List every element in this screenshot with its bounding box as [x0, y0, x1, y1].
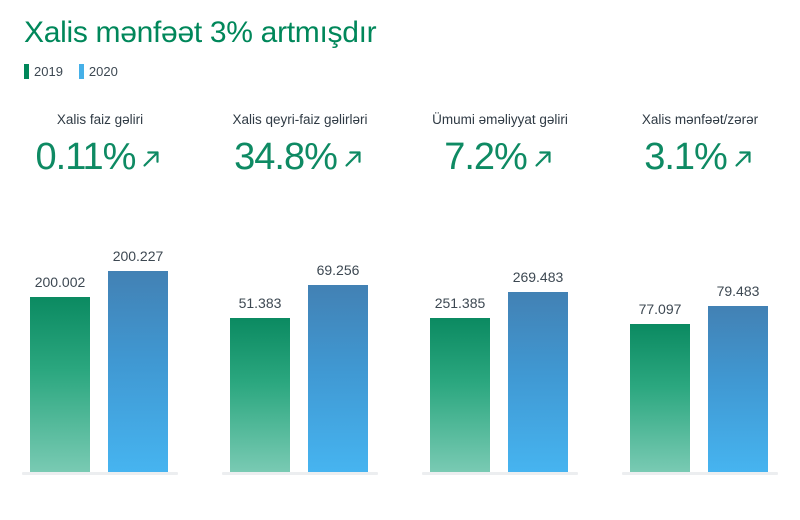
bar-value-label: 69.256: [283, 263, 393, 277]
bar-group-2: 51.383 69.256: [200, 0, 400, 520]
bar-2019[interactable]: [30, 297, 90, 472]
group-baseline: [422, 472, 578, 475]
bar-value-label: 79.483: [683, 284, 793, 298]
infographic-chart: Xalis mənfəət 3% artmışdır 2019 2020 Xal…: [0, 0, 800, 520]
bar-2020[interactable]: [708, 306, 768, 472]
group-baseline: [622, 472, 778, 475]
bar-value-label: 269.483: [483, 270, 593, 284]
bar-value-label: 51.383: [205, 296, 315, 310]
bar-groups: 200.002 200.227 51.383 69.256 251.385 26…: [0, 0, 800, 520]
bar-value-label: 77.097: [605, 302, 715, 316]
bar-2019[interactable]: [430, 318, 490, 472]
bar-2020[interactable]: [308, 285, 368, 472]
bar-2020[interactable]: [108, 271, 168, 472]
group-baseline: [22, 472, 178, 475]
bar-group-1: 200.002 200.227: [0, 0, 200, 520]
bar-2019[interactable]: [630, 324, 690, 472]
bar-group-3: 251.385 269.483: [400, 0, 600, 520]
group-baseline: [222, 472, 378, 475]
bar-2019[interactable]: [230, 318, 290, 472]
bar-value-label: 251.385: [405, 296, 515, 310]
bar-group-4: 77.097 79.483: [600, 0, 800, 520]
bar-2020[interactable]: [508, 292, 568, 472]
bar-value-label: 200.002: [5, 275, 115, 289]
bar-value-label: 200.227: [83, 249, 193, 263]
